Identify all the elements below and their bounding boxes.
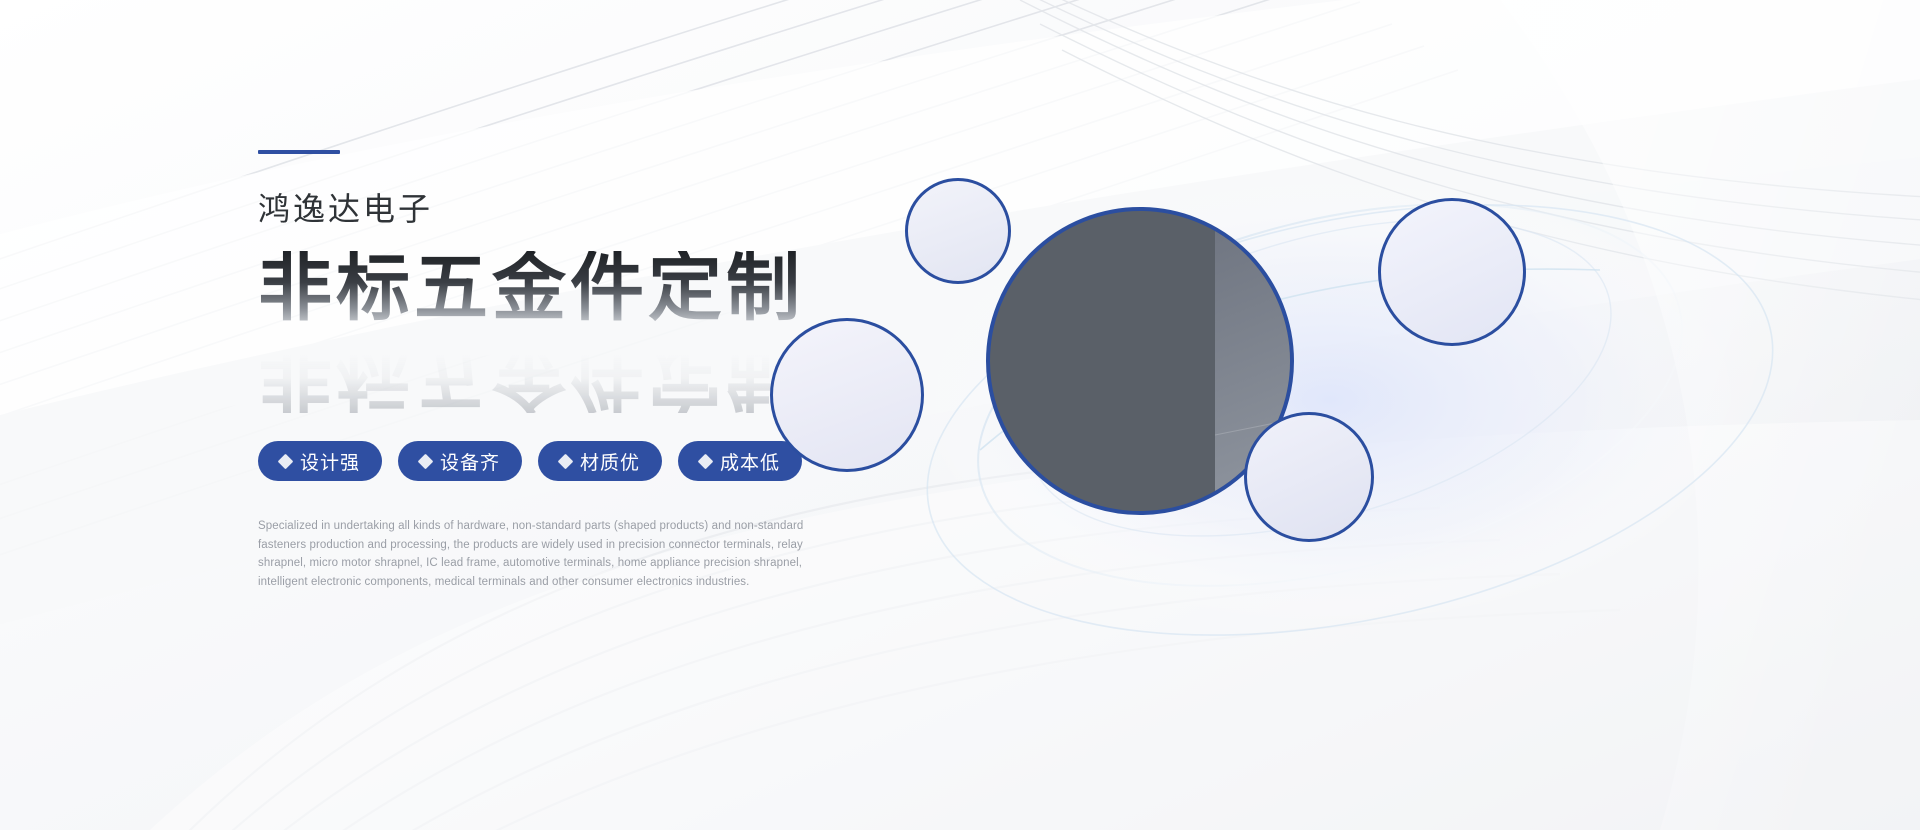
- hero-banner: 鸿逸达电子 非标五金件定制 非标五金件定制 设计强 设备齐 材质优 成本低: [0, 0, 1920, 830]
- feature-badge-label: 设备齐: [440, 448, 500, 475]
- company-description: Specialized in undertaking all kinds of …: [258, 517, 823, 592]
- feature-badge-equipment[interactable]: 设备齐: [398, 441, 522, 481]
- accent-rule: [258, 150, 340, 154]
- battery-clamp-icon: [773, 321, 924, 472]
- feature-badge-label: 材质优: [580, 448, 640, 475]
- diamond-icon: [558, 453, 574, 469]
- bubble-blue-retaining-clip[interactable]: [1378, 198, 1526, 346]
- feature-badge-material[interactable]: 材质优: [538, 441, 662, 481]
- feature-badge-label: 设计强: [300, 448, 360, 475]
- bent-metal-brackets-icon: [1247, 415, 1374, 542]
- product-showcase: [900, 120, 1910, 680]
- bubble-bent-metal-brackets[interactable]: [1244, 412, 1374, 542]
- page-title: 非标五金件定制: [258, 251, 804, 325]
- diamond-icon: [278, 453, 294, 469]
- diamond-icon: [418, 453, 434, 469]
- feature-badge-label: 成本低: [720, 448, 780, 475]
- bubble-battery-clamp[interactable]: [770, 318, 924, 472]
- headline-reflection: 非标五金件定制: [258, 339, 804, 413]
- blue-retaining-clip-icon: [1381, 201, 1526, 346]
- feature-badge-design[interactable]: 设计强: [258, 441, 382, 481]
- diamond-icon: [698, 453, 714, 469]
- brand-name: 鸿逸达电子: [258, 192, 898, 227]
